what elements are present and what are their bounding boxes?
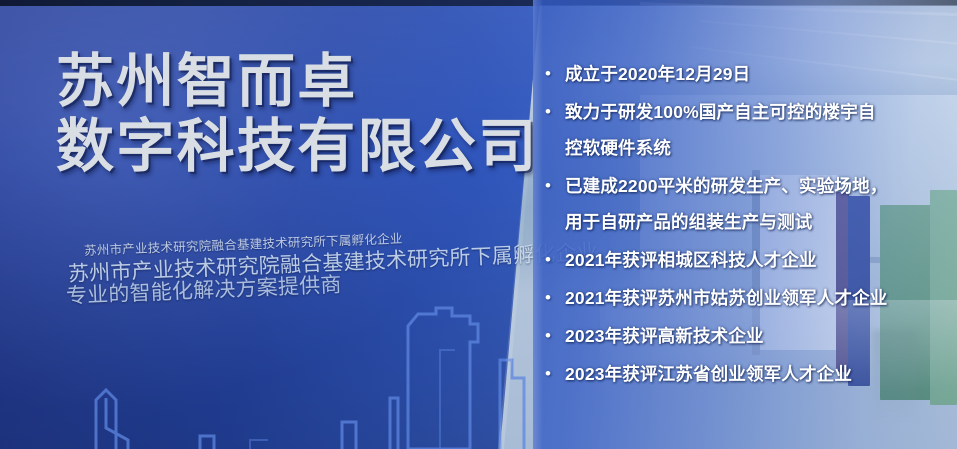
company-name-line-1: 苏州智而卓 (56, 52, 526, 111)
panel-left-edge-highlight (533, 0, 543, 449)
list-item: • 已建成2200平米的研发生产、实验场地， 用于自研产品的组装生产与测试 (545, 168, 957, 240)
bullet-marker-icon: • (545, 280, 565, 316)
list-item: • 成立于2020年12月29日 (545, 56, 957, 92)
bullet-marker-icon: • (545, 242, 565, 278)
company-name-line-2: 数字科技有限公司 (56, 117, 526, 176)
bullet-text: 致力于研发100%国产自主可控的楼宇自 (565, 94, 876, 130)
wall-top-shadow-strip (0, 0, 540, 6)
bullet-text: 2023年获评江苏省创业领军人才企业 (565, 356, 852, 392)
bullet-text: 2023年获评高新技术企业 (565, 318, 764, 354)
bullet-text: 2021年获评苏州市姑苏创业领军人才企业 (565, 280, 887, 316)
list-item: • 2021年获评相城区科技人才企业 (545, 242, 957, 278)
bullet-text: 成立于2020年12月29日 (565, 56, 750, 92)
slide-canvas: 苏州智而卓 数字科技有限公司 苏州市产业技术研究院融合基建技术研究所下属孵化企业… (0, 0, 957, 449)
list-item: • 2023年获评高新技术企业 (545, 318, 957, 354)
bullet-marker-icon: • (545, 318, 565, 354)
bullet-marker-icon: • (545, 356, 565, 392)
bullet-text-continued: 用于自研产品的组装生产与测试 (565, 204, 887, 240)
bullet-text: 已建成2200平米的研发生产、实验场地， (565, 168, 887, 204)
company-highlights-list: • 成立于2020年12月29日 • 致力于研发100%国产自主可控的楼宇自 控… (545, 56, 957, 394)
bullet-text: 2021年获评相城区科技人才企业 (565, 242, 817, 278)
list-item: • 致力于研发100%国产自主可控的楼宇自 控软硬件系统 (545, 94, 957, 166)
bullet-marker-icon: • (545, 56, 565, 92)
company-name-sign: 苏州智而卓 数字科技有限公司 (56, 52, 526, 176)
list-item: • 2021年获评苏州市姑苏创业领军人才企业 (545, 280, 957, 316)
list-item: • 2023年获评江苏省创业领军人才企业 (545, 356, 957, 392)
bullet-marker-icon: • (545, 168, 565, 204)
bullet-marker-icon: • (545, 94, 565, 130)
bullet-text-continued: 控软硬件系统 (565, 130, 876, 166)
